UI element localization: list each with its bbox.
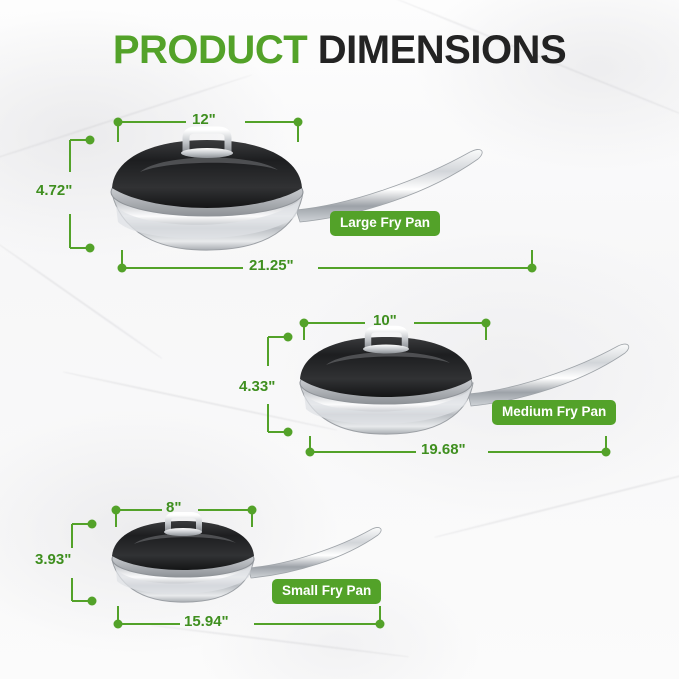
large-fry-pan-label[interactable]: Large Fry Pan (330, 211, 440, 236)
title-part-dimensions: DIMENSIONS (318, 28, 566, 72)
large-length-text: 21.25" (249, 257, 294, 274)
large-fry-pan-illustration (70, 118, 537, 273)
marble-vein (0, 243, 162, 359)
small-length-text: 15.94" (184, 613, 229, 630)
diagram-overlay (0, 0, 679, 679)
title-part-product: PRODUCT (113, 28, 307, 72)
medium-length-text: 19.68" (421, 441, 466, 458)
product-dimensions-infographic: PRODUCT DIMENSIONS (0, 0, 679, 679)
page-title: PRODUCT DIMENSIONS (0, 28, 679, 73)
small-fry-pan-illustration (72, 506, 385, 629)
marble-vein (434, 464, 679, 538)
large-diameter-text: 12" (192, 111, 216, 128)
large-height-text: 4.72" (36, 182, 72, 199)
medium-fry-pan-label[interactable]: Medium Fry Pan (492, 400, 616, 425)
small-height-text: 3.93" (35, 551, 71, 568)
medium-diameter-text: 10" (373, 312, 397, 329)
medium-fry-pan-illustration (268, 319, 629, 457)
small-fry-pan-label[interactable]: Small Fry Pan (272, 579, 381, 604)
marble-vein (63, 371, 337, 431)
small-diameter-text: 8" (166, 499, 181, 516)
medium-height-text: 4.33" (239, 378, 275, 395)
